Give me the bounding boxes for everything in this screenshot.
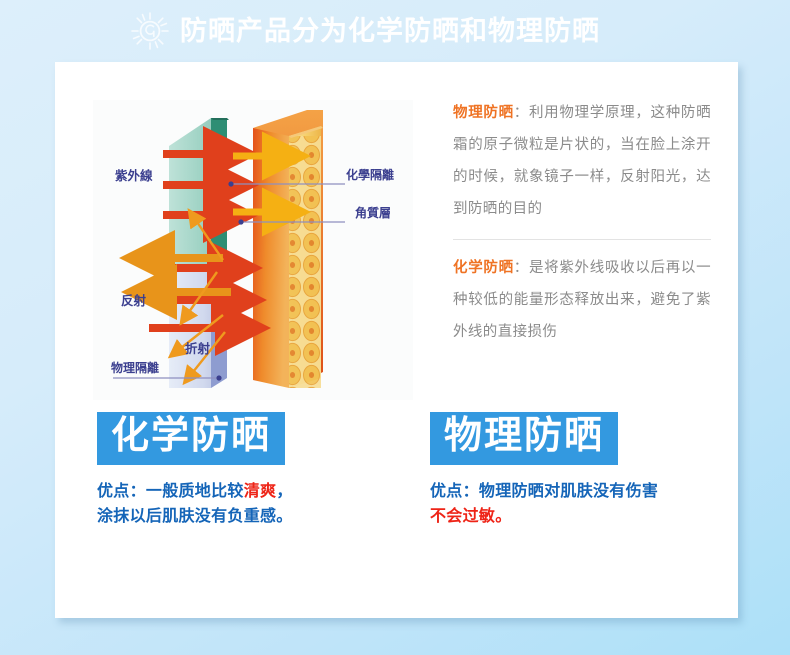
physical-merit-line-1: 优点：物理防晒对肌肤没有伤害 — [430, 479, 720, 504]
figure-label-chemical-barrier: 化學隔離 — [346, 167, 394, 182]
description-panel: 物理防晒：利用物理学原理，这种防晒霜的原子微粒是片状的，当在脸上涂开的时候，就象… — [453, 97, 711, 397]
chemical-merit-pre: 优点：一般质地比较 — [97, 483, 244, 500]
physical-body: ：利用物理学原理，这种防晒霜的原子微粒是片状的，当在脸上涂开的时候，就象镜子一样… — [453, 105, 711, 217]
chemical-description: 化学防晒：是将紫外线吸收以后再以一种较低的能量形态释放出来，避免了紫外线的直接损… — [453, 252, 711, 348]
top-row: 紫外線 反射 折射 物理隔離 化學隔離 角質層 物理防晒：利用物理学原理，这种防… — [55, 62, 738, 382]
sunscreen-mechanism-diagram: 紫外線 反射 折射 物理隔離 化學隔離 角質層 — [93, 100, 413, 400]
chemical-merit-highlight: 清爽 — [244, 483, 277, 500]
chemical-merits: 优点：一般质地比较清爽， 涂抹以后肌肤没有负重感。 — [97, 479, 397, 529]
chemical-column: 化学防晒 优点：一般质地比较清爽， 涂抹以后肌肤没有负重感。 — [97, 412, 397, 529]
figure-label-reflection: 反射 — [121, 293, 147, 308]
chemical-badge: 化学防晒 — [97, 412, 285, 465]
page-title: 防晒产品分为化学防晒和物理防晒 — [180, 18, 600, 45]
physical-keyword: 物理防晒 — [453, 105, 514, 121]
physical-badge: 物理防晒 — [430, 412, 618, 465]
figure-label-physical-barrier: 物理隔離 — [111, 360, 159, 375]
sun-icon — [130, 11, 170, 51]
chemical-merit-post: ， — [276, 483, 292, 500]
comparison-columns: 化学防晒 优点：一般质地比较清爽， 涂抹以后肌肤没有负重感。 物理防晒 优点：物… — [55, 412, 738, 592]
chemical-keyword: 化学防晒 — [453, 260, 514, 276]
chemical-merit-line-1: 优点：一般质地比较清爽， — [97, 479, 397, 504]
physical-merits: 优点：物理防晒对肌肤没有伤害 不会过敏。 — [430, 479, 720, 529]
figure-label-stratum-corneum: 角質層 — [355, 205, 391, 220]
physical-column: 物理防晒 优点：物理防晒对肌肤没有伤害 不会过敏。 — [430, 412, 720, 529]
figure-label-refraction: 折射 — [185, 341, 211, 356]
physical-description: 物理防晒：利用物理学原理，这种防晒霜的原子微粒是片状的，当在脸上涂开的时候，就象… — [453, 97, 711, 225]
content-card: 紫外線 反射 折射 物理隔離 化學隔離 角質層 物理防晒：利用物理学原理，这种防… — [55, 62, 738, 618]
page-header: 防晒产品分为化学防晒和物理防晒 — [0, 0, 790, 62]
description-divider — [453, 239, 711, 240]
physical-merit-line-2: 不会过敏。 — [430, 504, 720, 529]
chemical-merit-line-2: 涂抹以后肌肤没有负重感。 — [97, 504, 397, 529]
header-inner: 防晒产品分为化学防晒和物理防晒 — [130, 11, 600, 51]
figure-label-uv: 紫外線 — [115, 168, 153, 183]
